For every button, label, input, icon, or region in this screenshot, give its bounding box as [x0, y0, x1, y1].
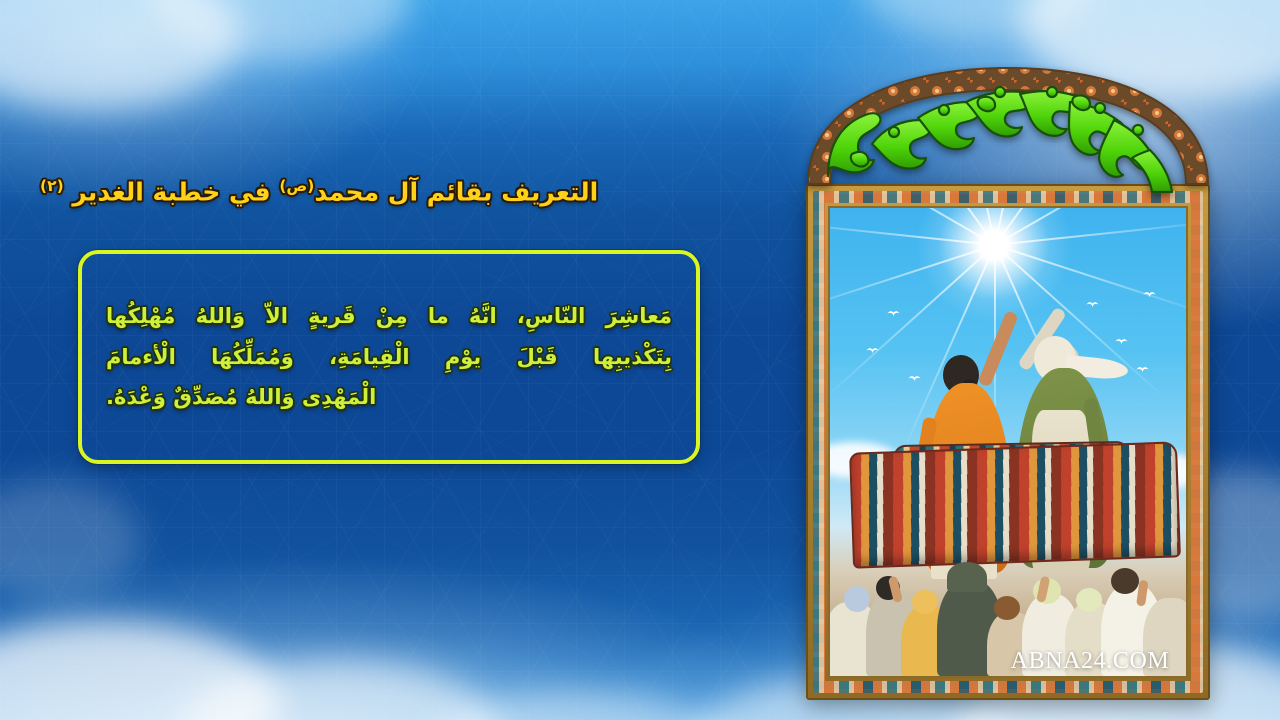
- quote-line-2: بِتَكْذيبِها قَبْلَ يوْمِ الْقِيامَةِ، و…: [106, 337, 672, 378]
- site-watermark: ABNA24.COM: [990, 646, 1190, 676]
- crowd-person-head: [1076, 588, 1102, 612]
- crowd-person-head: [912, 590, 938, 614]
- quote-line-1: مَعاشِرَ النّاسِ، انَّهُ ما مِنْ قَريةٍ …: [106, 296, 672, 337]
- bird-icon: [1143, 292, 1156, 299]
- ghadir-calligraphy-arch: [794, 58, 1222, 198]
- page-title-main: التعريف بقائم آل محمد: [314, 177, 598, 206]
- page-title-sup-part: (٢): [40, 177, 64, 195]
- page-title: التعريف بقائم آل محمد(ص) في خطبة الغدير …: [40, 168, 740, 216]
- hadith-quote-text: مَعاشِرَ النّاسِ، انَّهُ ما مِنْ قَريةٍ …: [106, 296, 672, 419]
- hadith-quote-box: مَعاشِرَ النّاسِ، انَّهُ ما مِنْ قَريةٍ …: [78, 250, 700, 464]
- ghadir-poster: [802, 88, 1214, 608]
- crowd-person-head: [994, 596, 1020, 620]
- ghadir-khumm-illustration: [828, 206, 1188, 678]
- site-watermark-text: ABNA24.COM: [1011, 648, 1170, 675]
- bird-icon: [1136, 367, 1149, 374]
- bird-icon: [887, 311, 900, 318]
- crowd-person-head: [947, 562, 987, 592]
- page-title-sup-saw: (ص): [279, 177, 314, 195]
- ornate-islamic-frame: [806, 184, 1210, 700]
- bird-icon: [866, 348, 879, 355]
- poster-canvas: التعريف بقائم آل محمد(ص) في خطبة الغدير …: [0, 0, 1280, 720]
- quote-line-3: الْمَهْدِى وَاللهُ مُصَدِّقٌ وَعْدَهُ.: [106, 377, 672, 418]
- page-title-mid: في خطبة الغدير: [64, 177, 280, 206]
- page-title-text: التعريف بقائم آل محمد(ص) في خطبة الغدير …: [40, 178, 598, 206]
